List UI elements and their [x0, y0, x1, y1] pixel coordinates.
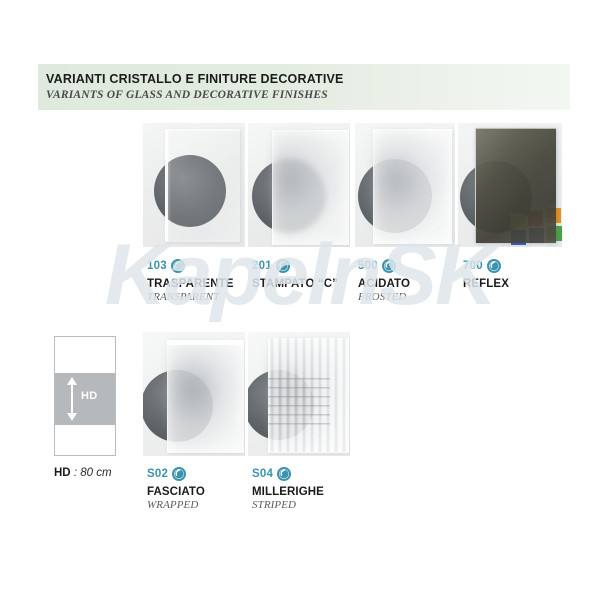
- sample-label-stampato-c: 201 STAMPATO “C”: [252, 258, 338, 291]
- sample-subname: STRIPED: [252, 499, 324, 511]
- sample-name: MILLERIGHE: [252, 486, 324, 498]
- pane-reflex-sheen: [475, 128, 555, 242]
- hd-caption-value: : 80 cm: [71, 467, 112, 479]
- section-header-band: VARIANTI CRISTALLO E FINITURE DECORATIVE…: [38, 64, 570, 110]
- pane-blur-overlay: [272, 130, 348, 244]
- sample-name: STAMPATO “C”: [252, 278, 338, 290]
- code-row: 103: [147, 258, 234, 274]
- page-title: VARIANTI CRISTALLO E FINITURE DECORATIVE: [46, 72, 344, 86]
- sample-label-reflex: 700 REFLEX: [463, 258, 509, 291]
- sample-name: ACIDATO: [358, 278, 410, 290]
- code-row: 500: [358, 258, 410, 274]
- sample-image-acidato[interactable]: [355, 123, 455, 247]
- pane-frost-haze: [373, 129, 451, 243]
- sample-subname: WRAPPED: [147, 499, 205, 511]
- code-row: S02: [147, 466, 205, 482]
- pane-edge-highlight: [165, 129, 168, 241]
- sample-image-trasparente[interactable]: [143, 123, 245, 247]
- sample-code: 700: [463, 260, 483, 272]
- sample-image-stampato-c[interactable]: [248, 123, 350, 247]
- code-row: 700: [463, 258, 509, 274]
- sample-image-fasciato[interactable]: [143, 332, 245, 456]
- sample-name: REFLEX: [463, 278, 509, 290]
- hd-caption-bold: HD: [54, 467, 71, 479]
- hd-double-arrow-icon: [66, 377, 78, 421]
- glass-swirl-icon: [172, 467, 186, 481]
- sample-image-millerighe[interactable]: [248, 332, 350, 456]
- page-subtitle: VARIANTS OF GLASS AND DECORATIVE FINISHE…: [46, 89, 328, 101]
- sample-code: 500: [358, 260, 378, 272]
- hd-dimension-diagram: HD: [54, 336, 116, 456]
- swatch-white: [531, 245, 546, 247]
- sample-label-millerighe: S04 MILLERIGHE STRIPED: [252, 466, 324, 511]
- glass-swirl-icon: [276, 259, 290, 273]
- pane-horizontal-streaks: [268, 378, 330, 428]
- sample-label-trasparente: 103 TRASPARENTE TRANSPARENT: [147, 258, 234, 303]
- glass-swirl-icon: [487, 259, 501, 273]
- sample-label-acidato: 500 ACIDATO FROSTED: [358, 258, 410, 303]
- sample-code: S02: [147, 468, 168, 480]
- sample-subname: FROSTED: [358, 291, 410, 303]
- hd-band-label: HD: [81, 390, 98, 402]
- code-row: 201: [252, 258, 338, 274]
- glass-swirl-icon: [277, 467, 291, 481]
- glass-pane-transparent: [165, 129, 240, 242]
- sample-label-fasciato: S02 FASCIATO WRAPPED: [147, 466, 205, 511]
- glass-swirl-icon: [171, 259, 185, 273]
- sample-name: TRASPARENTE: [147, 278, 234, 290]
- sample-name: FASCIATO: [147, 486, 205, 498]
- glass-swirl-icon: [382, 259, 396, 273]
- sample-image-reflex[interactable]: [458, 123, 562, 247]
- sample-code: 103: [147, 260, 167, 272]
- sample-code: 201: [252, 260, 272, 272]
- pane-top-bar: [167, 340, 243, 345]
- code-row: S04: [252, 466, 324, 482]
- sample-code: S04: [252, 468, 273, 480]
- sample-subname: TRANSPARENT: [147, 291, 234, 303]
- hd-caption: HD : 80 cm: [54, 467, 112, 479]
- pane-wrapped-haze: [167, 340, 243, 452]
